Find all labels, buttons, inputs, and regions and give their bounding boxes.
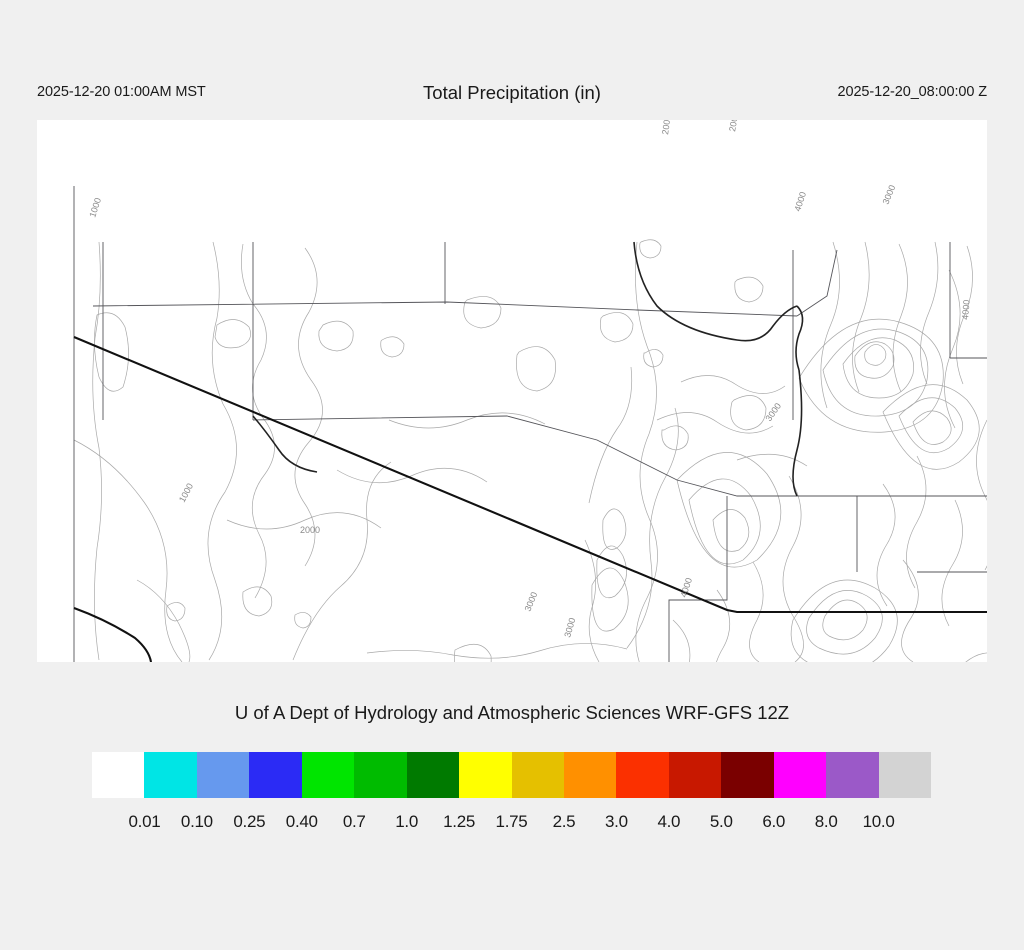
colorbar-tick: 10.0 (863, 812, 895, 832)
colorbar[interactable] (92, 752, 931, 798)
swatch-8.0[interactable] (826, 752, 878, 798)
contour-label: 4000 (960, 299, 972, 320)
colorbar-tick: 4.0 (657, 812, 680, 832)
swatch-0.7[interactable] (354, 752, 406, 798)
swatch-0.40[interactable] (302, 752, 354, 798)
colorbar-tick: 2.5 (553, 812, 576, 832)
colorbar-tick: 6.0 (762, 812, 785, 832)
swatch-1.25[interactable] (459, 752, 511, 798)
colorbar-tick: 0.25 (233, 812, 265, 832)
swatch-5.0[interactable] (721, 752, 773, 798)
swatch-4.0[interactable] (669, 752, 721, 798)
map-background (37, 120, 987, 662)
swatch-0.01[interactable] (144, 752, 196, 798)
swatch-below-0.01[interactable] (92, 752, 144, 798)
swatch-6.0[interactable] (774, 752, 826, 798)
swatch-0.10[interactable] (197, 752, 249, 798)
map-caption: U of A Dept of Hydrology and Atmospheric… (0, 702, 1024, 724)
swatch-1.0[interactable] (407, 752, 459, 798)
colorbar-tick: 0.01 (128, 812, 160, 832)
swatch-10.0[interactable] (879, 752, 931, 798)
colorbar-tick: 1.25 (443, 812, 475, 832)
colorbar-tick: 0.40 (286, 812, 318, 832)
swatch-0.25[interactable] (249, 752, 301, 798)
colorbar-tick: 0.7 (343, 812, 366, 832)
colorbar-tick: 8.0 (815, 812, 838, 832)
colorbar-tick-labels: 0.010.100.250.400.71.01.251.752.53.04.05… (92, 812, 931, 838)
swatch-3.0[interactable] (616, 752, 668, 798)
swatch-1.75[interactable] (512, 752, 564, 798)
colorbar-tick: 1.75 (496, 812, 528, 832)
colorbar-swatches[interactable] (92, 752, 931, 798)
map-header: 2025-12-20 01:00AM MST Total Precipitati… (0, 84, 1024, 110)
colorbar-tick: 1.0 (395, 812, 418, 832)
forecast-map[interactable]: 2000 2000 1000 3000 4000 4000 3000 1000 … (37, 120, 987, 662)
colorbar-tick: 0.10 (181, 812, 213, 832)
swatch-2.5[interactable] (564, 752, 616, 798)
contour-label: 2000 (300, 525, 320, 535)
colorbar-tick: 5.0 (710, 812, 733, 832)
map-canvas: 2000 2000 1000 3000 4000 4000 3000 1000 … (37, 120, 987, 662)
colorbar-tick: 3.0 (605, 812, 628, 832)
valid-time-utc: 2025-12-20_08:00:00 Z (838, 84, 987, 100)
